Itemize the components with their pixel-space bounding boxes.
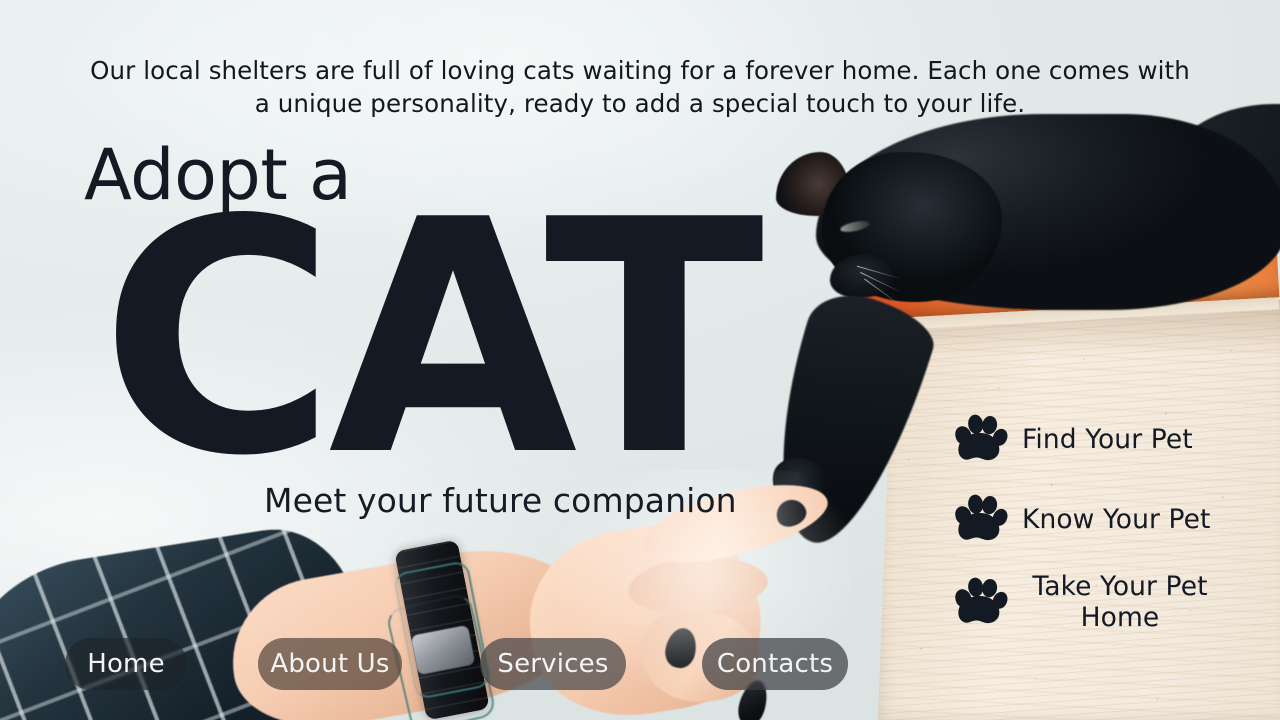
paw-icon [952, 412, 1008, 468]
paw-icon [952, 492, 1008, 548]
nav-item-about-us[interactable]: About Us [258, 638, 402, 690]
feature-item[interactable]: Find Your Pet [952, 412, 1252, 468]
feature-label: Know Your Pet [1022, 505, 1211, 536]
nav-item-services[interactable]: Services [480, 638, 626, 690]
intro-paragraph: Our local shelters are full of loving ca… [86, 54, 1194, 121]
feature-list: Find Your Pet Know Your Pet [952, 412, 1252, 633]
feature-item[interactable]: Know Your Pet [952, 492, 1252, 548]
paw-icon [952, 575, 1008, 631]
cat-muzzle [830, 254, 894, 298]
feature-item[interactable]: Take Your Pet Home [952, 572, 1252, 633]
main-nav: Home About Us Services Contacts [0, 638, 1280, 690]
feature-label: Take Your Pet Home [1022, 572, 1218, 633]
feature-label: Find Your Pet [1022, 425, 1193, 456]
hero-poster: Our local shelters are full of loving ca… [0, 0, 1280, 720]
page-title: CAT [100, 210, 756, 468]
nav-item-home[interactable]: Home [65, 638, 187, 690]
nav-item-contacts[interactable]: Contacts [702, 638, 848, 690]
subtitle-text: Meet your future companion [264, 484, 737, 517]
